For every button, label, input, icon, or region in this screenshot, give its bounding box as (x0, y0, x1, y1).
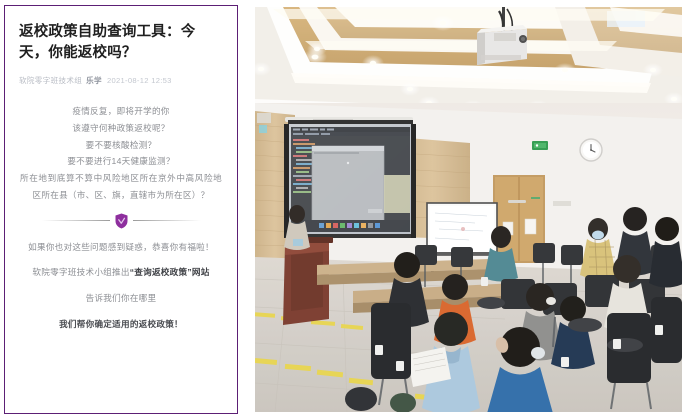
body-spacer (19, 255, 223, 264)
meta-source: 软院零字班技术组 (19, 76, 82, 85)
body-spacer-2 (19, 281, 223, 290)
article-body: 疫情反复，即将开学的你 该遵守何种政策返校呢？ 要不要核酸检测？ 要不要进行14… (19, 103, 223, 333)
body-line-7-suffix: 网站 (192, 267, 210, 277)
article-card-inner: 返校政策自助查询工具：今天，你能返校吗？ 软院零字班技术组乐学2021-08-1… (5, 6, 237, 413)
divider-rule-right (133, 220, 201, 221)
page-root: 返校政策自助查询工具：今天，你能返校吗？ 软院零字班技术组乐学2021-08-1… (0, 0, 682, 420)
body-line-6: 如果你也对这些问题感到疑惑，恭喜你有福啦！ (19, 239, 223, 256)
classroom-photo-image (255, 7, 682, 412)
divider-rule-left (42, 220, 110, 221)
body-line-1: 疫情反复，即将开学的你 (19, 103, 223, 120)
body-line-9: 我们帮你确定适用的返校政策！ (19, 316, 223, 333)
meta-date: 2021-08-12 12:53 (107, 76, 172, 85)
article-card: 返校政策自助查询工具：今天，你能返校吗？ 软院零字班技术组乐学2021-08-1… (4, 5, 238, 414)
body-line-2: 该遵守何种政策返校呢？ (19, 120, 223, 137)
body-line-7-prefix: 软院零字班技术小组推出 (32, 267, 129, 277)
shield-check-icon (115, 213, 128, 229)
body-line-8: 告诉我们你在哪里 (19, 290, 223, 307)
body-line-3: 要不要核酸检测？ (19, 137, 223, 154)
article-meta: 软院零字班技术组乐学2021-08-12 12:53 (19, 75, 223, 86)
body-spacer-3 (19, 307, 223, 316)
meta-platform[interactable]: 乐学 (86, 76, 102, 85)
classroom-photo (255, 7, 682, 412)
body-line-7: 软院零字班技术小组推出“查询返校政策”网站 (19, 264, 223, 281)
section-divider (19, 211, 223, 231)
website-name: “查询返校政策” (130, 267, 192, 277)
page-title: 返校政策自助查询工具：今天，你能返校吗？ (19, 22, 223, 64)
body-line-4: 要不要进行14天健康监测？ (19, 153, 223, 170)
body-line-5: 所在地到底算不算中风险地区所在京外中高风险地区所在县（市、区、旗，直辖市为所在区… (19, 170, 223, 204)
